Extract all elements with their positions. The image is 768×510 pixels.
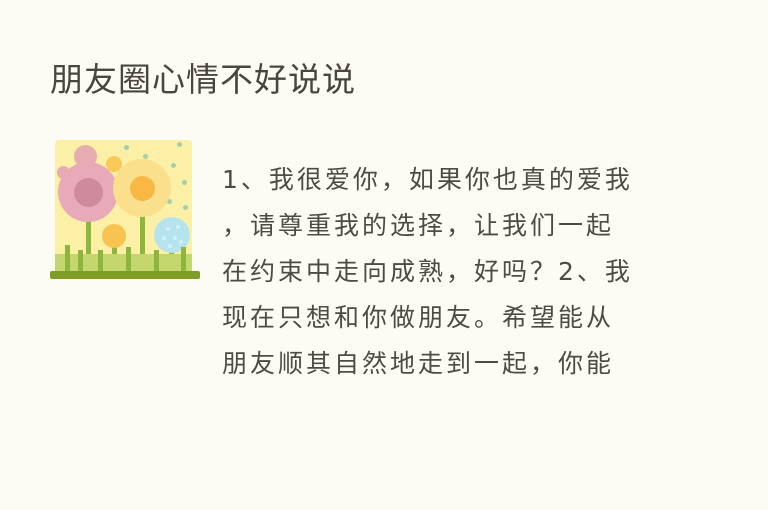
- grass-blade-icon: [78, 250, 83, 273]
- flower-garden-illustration: [50, 137, 200, 292]
- body-line: 1、我很爱你，如果你也真的爱我: [222, 157, 668, 203]
- blue-flower-dot-icon: [162, 236, 166, 240]
- page-title: 朋友圈心情不好说说: [50, 58, 356, 102]
- orange-flower-icon: [102, 224, 126, 248]
- body-line: 朋友顺其自然地走到一起，你能: [222, 341, 668, 387]
- article-card: 朋友圈心情不好说说: [0, 0, 768, 510]
- blue-flower-dot-icon: [173, 236, 177, 240]
- grass-blade-icon: [65, 245, 70, 273]
- yellow-flower-center-icon: [130, 176, 155, 201]
- body-line: ，请尊重我的选择，让我们一起: [222, 203, 668, 249]
- teal-dot-icon: [183, 205, 188, 210]
- pink-flower-center-icon: [74, 178, 103, 207]
- ground-bar: [50, 271, 200, 279]
- teal-dot-icon: [171, 163, 176, 168]
- teal-dot-icon: [124, 145, 129, 150]
- teal-dot-icon: [177, 142, 182, 147]
- blue-flower-dot-icon: [168, 244, 172, 248]
- grass-blade-icon: [98, 250, 103, 273]
- grass-blade-icon: [181, 247, 186, 273]
- body-line: 现在只想和你做朋友。希望能从: [222, 295, 668, 341]
- blue-flower-dot-icon: [166, 227, 170, 231]
- grass-blade-icon: [126, 247, 131, 273]
- blue-flower-dot-icon: [176, 225, 180, 229]
- blue-flower-dot-icon: [179, 240, 183, 244]
- article-body: 1、我很爱你，如果你也真的爱我 ，请尊重我的选择，让我们一起 在约束中走向成熟，…: [222, 157, 668, 387]
- teal-dot-icon: [182, 180, 187, 185]
- body-line: 在约束中走向成熟，好吗？2、我: [222, 249, 668, 295]
- grass-blade-icon: [154, 250, 159, 273]
